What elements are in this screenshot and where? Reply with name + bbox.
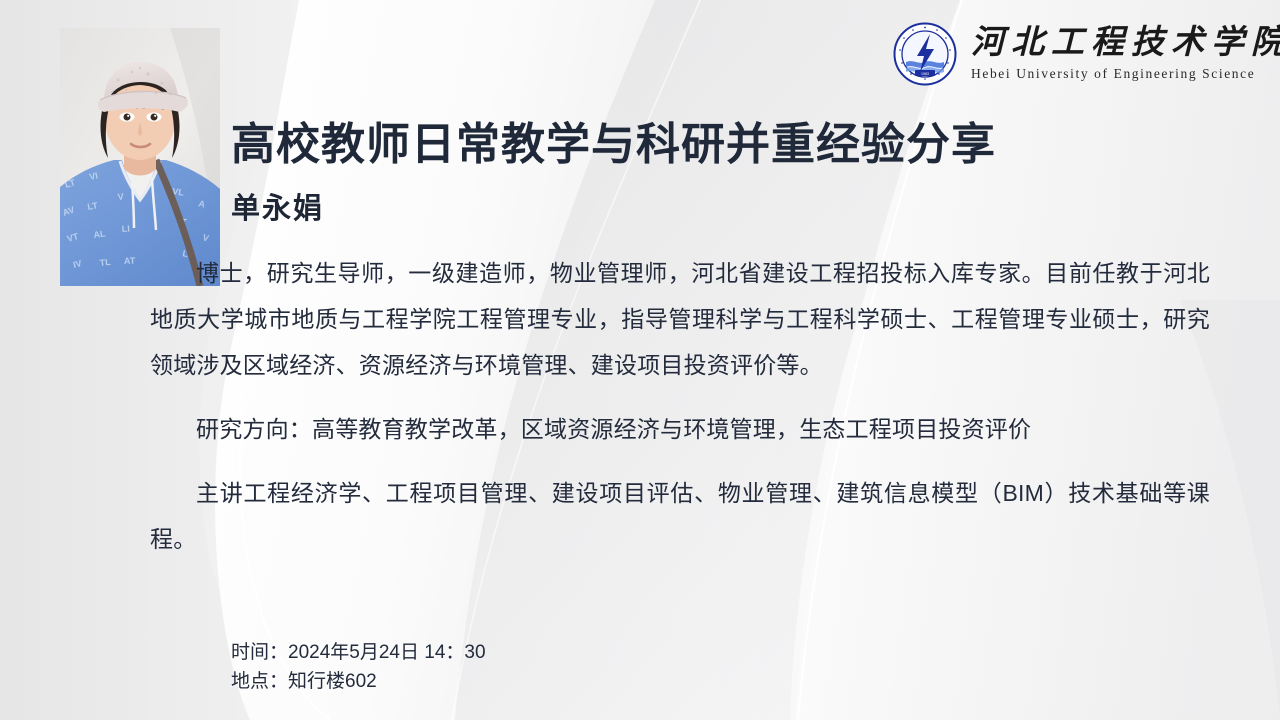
- portrait-illustration: LT VI AV LT VT AL IV TL V LI AT VL IT LV…: [60, 28, 220, 286]
- event-place-label: 地点：: [231, 671, 288, 692]
- event-time-label: 时间：: [231, 642, 288, 663]
- bio-paragraph-3: 主讲工程经济学、工程项目管理、建设项目评估、物业管理、建筑信息模型（BIM）技术…: [150, 470, 1210, 562]
- speaker-name: 单永娟: [231, 185, 324, 227]
- event-details: 时间：2024年5月24日 14：30 地点：知行楼602: [231, 638, 486, 696]
- logo-name-cn: 河北工程技术学院: [971, 27, 1280, 60]
- svg-text:TL: TL: [99, 257, 111, 268]
- logo-name-en: Hebei University of Engineering Science: [971, 67, 1280, 81]
- bio-paragraph-2: 研究方向：高等教育教学改革，区域资源经济与环境管理，生态工程项目投资评价: [150, 406, 1210, 452]
- speaker-portrait-photo: LT VI AV LT VT AL IV TL V LI AT VL IT LV…: [60, 28, 220, 286]
- event-place-value: 知行楼602: [288, 671, 377, 692]
- presentation-slide: LT VI AV LT VT AL IV TL V LI AT VL IT LV…: [0, 0, 1280, 720]
- bio-body: 博士，研究生导师，一级建造师，物业管理师，河北省建设工程招投标入库专家。目前任教…: [150, 250, 1210, 562]
- university-logo: 1983 河北工程技术学院 Hebei University of Engine…: [893, 22, 1280, 86]
- svg-text:1983: 1983: [921, 72, 929, 76]
- slide-title: 高校教师日常教学与科研并重经验分享: [231, 108, 996, 172]
- university-seal-icon: 1983: [893, 22, 957, 86]
- svg-text:LI: LI: [121, 223, 130, 234]
- svg-text:AT: AT: [124, 256, 136, 266]
- svg-text:AL: AL: [93, 228, 107, 240]
- bio-paragraph-1: 博士，研究生导师，一级建造师，物业管理师，河北省建设工程招投标入库专家。目前任教…: [150, 250, 1210, 388]
- event-place-row: 地点：知行楼602: [231, 667, 486, 696]
- event-time-row: 时间：2024年5月24日 14：30: [231, 638, 486, 667]
- event-time-value: 2024年5月24日 14：30: [288, 642, 486, 663]
- svg-text:V: V: [117, 191, 124, 202]
